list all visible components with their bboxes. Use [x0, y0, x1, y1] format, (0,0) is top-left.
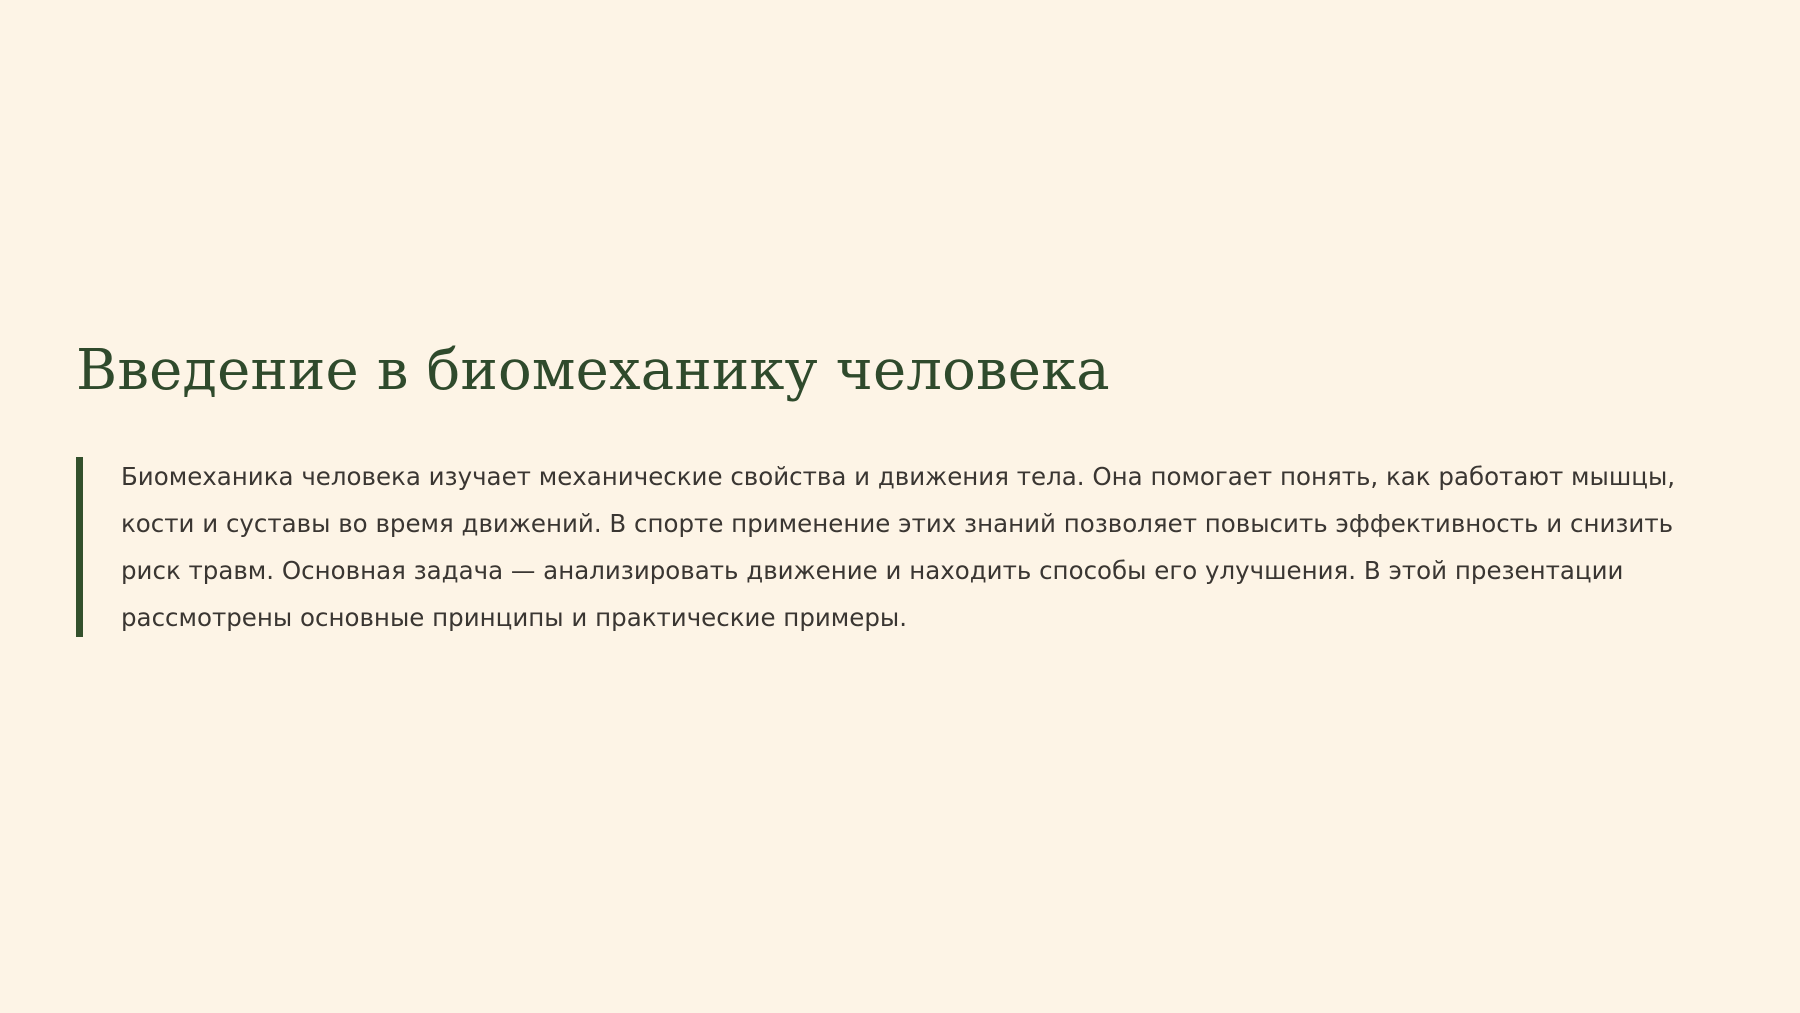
slide-content: Введение в биомеханику человека Биомехан… [76, 340, 1716, 641]
body-paragraph: Биомеханика человека изучает механически… [121, 453, 1716, 641]
body-callout: Биомеханика человека изучает механически… [76, 453, 1716, 641]
slide-canvas: Введение в биомеханику человека Биомехан… [0, 0, 1800, 1013]
accent-bar [76, 457, 83, 637]
page-title: Введение в биомеханику человека [76, 340, 1716, 403]
